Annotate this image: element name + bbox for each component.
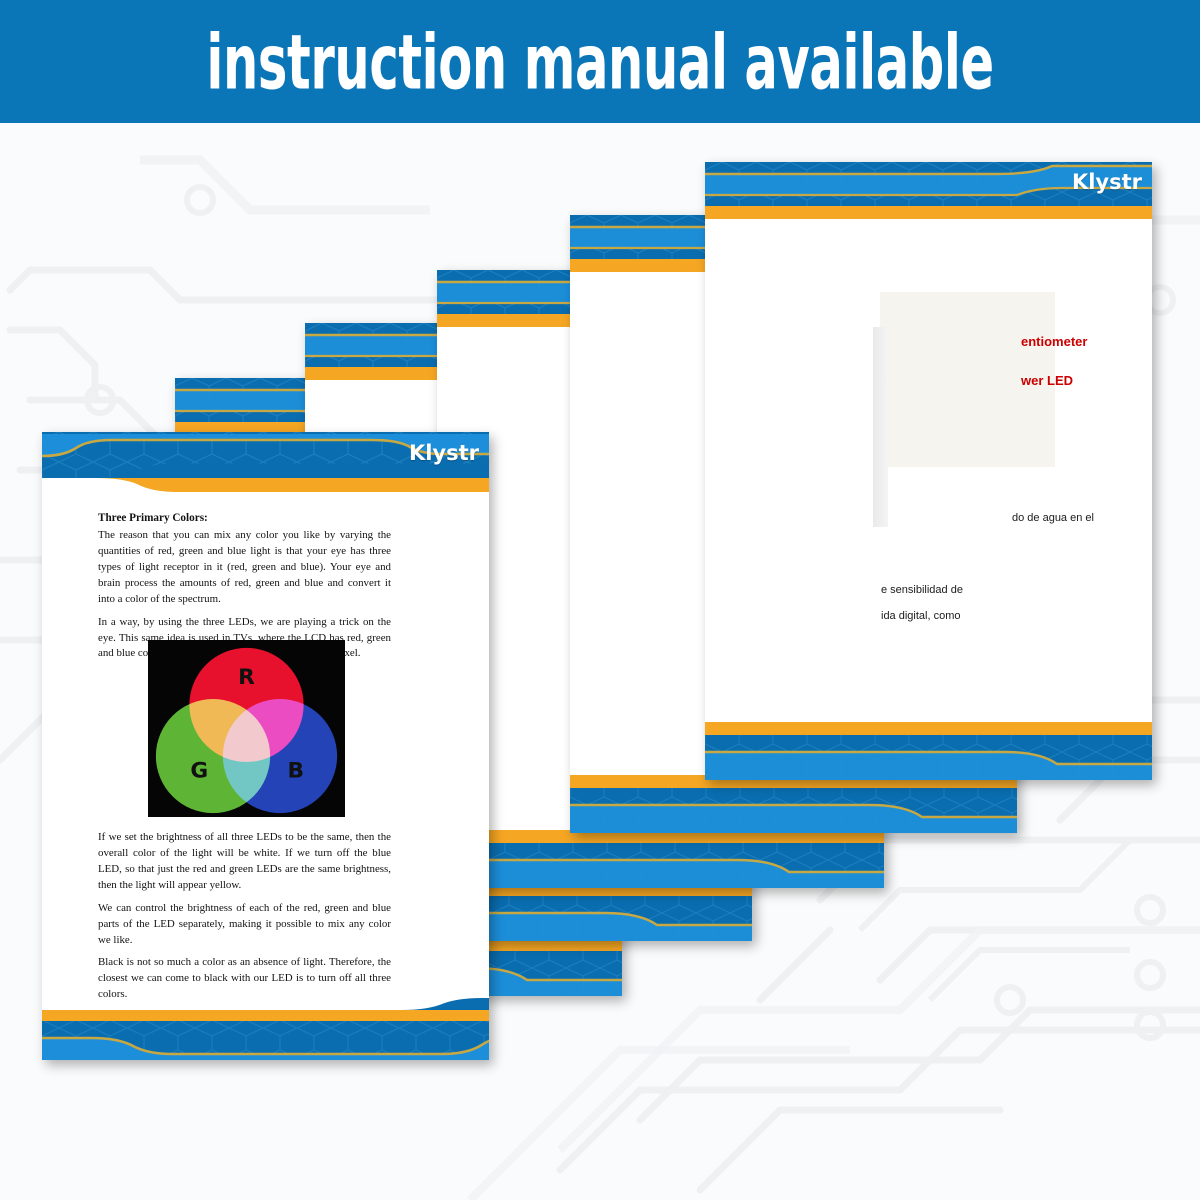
side-grey-strip (873, 327, 888, 527)
page-footer-ornament (570, 775, 1017, 833)
svg-text:B: B (287, 759, 304, 784)
fragment-power-led: wer LED (1021, 373, 1073, 388)
fragment-sensibilidad: e sensibilidad de (881, 584, 963, 596)
brand-label: Klystr (409, 441, 479, 465)
brand-label: Klystr (1072, 170, 1142, 194)
screenshot-root: Klystr entiometer wer LED do de agua en … (0, 0, 1200, 1200)
svg-text:R: R (238, 665, 255, 690)
manual-page-1-front[interactable]: Klystr Three Primary Colors: The reason … (42, 432, 489, 1060)
paragraph: If we set the brightness of all three LE… (98, 830, 391, 894)
paragraph: We can control the brightness of each of… (98, 901, 391, 949)
document-text-column-lower: If we set the brightness of all three LE… (98, 830, 391, 1010)
banner-title: instruction manual available (206, 25, 993, 101)
manual-page-6[interactable]: Klystr entiometer wer LED do de agua en … (705, 162, 1152, 780)
fragment-digital: ida digital, como (881, 610, 961, 622)
fragment-agua: do de agua en el (1012, 512, 1094, 524)
page-footer-ornament (705, 722, 1152, 780)
promo-banner: instruction manual available (0, 0, 1200, 123)
fragment-potentiometer: entiometer (1021, 334, 1087, 349)
rgb-additive-venn-figure: R G B (148, 640, 345, 817)
page-header-ornament: Klystr (705, 162, 1152, 222)
paragraph: The reason that you can mix any color yo… (98, 528, 391, 608)
svg-text:G: G (190, 759, 208, 784)
paragraph: Black is not so much a color as an absen… (98, 955, 391, 1003)
page-footer-ornament (437, 830, 884, 888)
page-footer-ornament (42, 998, 489, 1060)
page-header-ornament: Klystr (42, 432, 489, 494)
section-heading: Three Primary Colors: (98, 512, 391, 524)
